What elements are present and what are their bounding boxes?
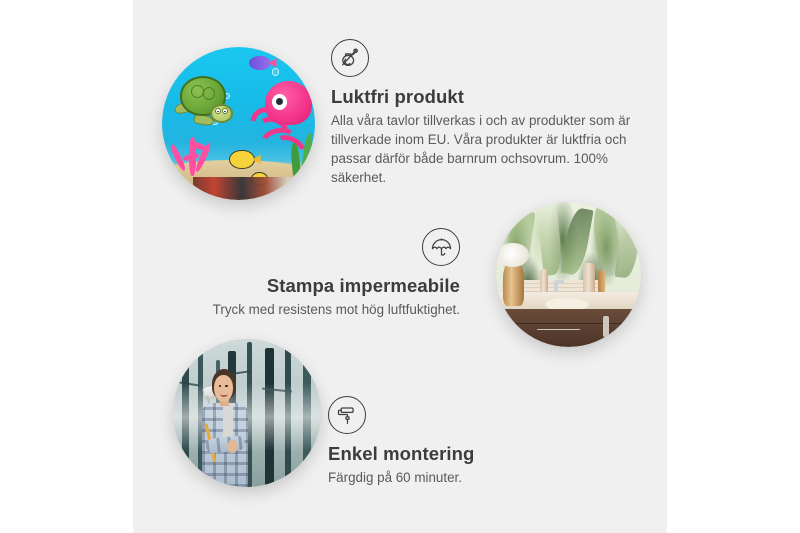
screenshot-stage: Luktfri produkt Alla våra tavlor tillver… — [0, 0, 800, 533]
underwater-cartoon-scene-photo — [162, 47, 315, 200]
feature-description: Tryck med resistens mot hög luftfuktighe… — [188, 300, 460, 319]
feature-text-3: Enkel montering Färgdig på 60 minuter. — [328, 396, 608, 487]
feature-description: Färgdig på 60 minuter. — [328, 468, 608, 487]
woman-paint-roller-forest-photo — [173, 339, 321, 487]
woman-graphic — [197, 369, 265, 487]
feature-text-2: Stampa impermeabile Tryck med resistens … — [188, 228, 460, 319]
umbrella-icon — [422, 228, 460, 266]
no-fragrance-icon — [331, 39, 369, 77]
feature-text-1: Luktfri produkt Alla våra tavlor tillver… — [331, 39, 631, 187]
feature-description: Alla våra tavlor tillverkas i och av pro… — [331, 111, 631, 187]
feature-title: Enkel montering — [328, 442, 608, 465]
feature-panel: Luktfri produkt Alla våra tavlor tillver… — [133, 0, 667, 533]
paint-roller-icon — [328, 396, 366, 434]
feature-title: Stampa impermeabile — [188, 274, 460, 297]
coral-graphic — [168, 124, 220, 176]
feature-title: Luktfri produkt — [331, 85, 631, 108]
bathroom-tropical-wallpaper-photo — [496, 202, 641, 347]
turtle-graphic — [176, 76, 246, 130]
octopus-graphic — [251, 81, 312, 158]
